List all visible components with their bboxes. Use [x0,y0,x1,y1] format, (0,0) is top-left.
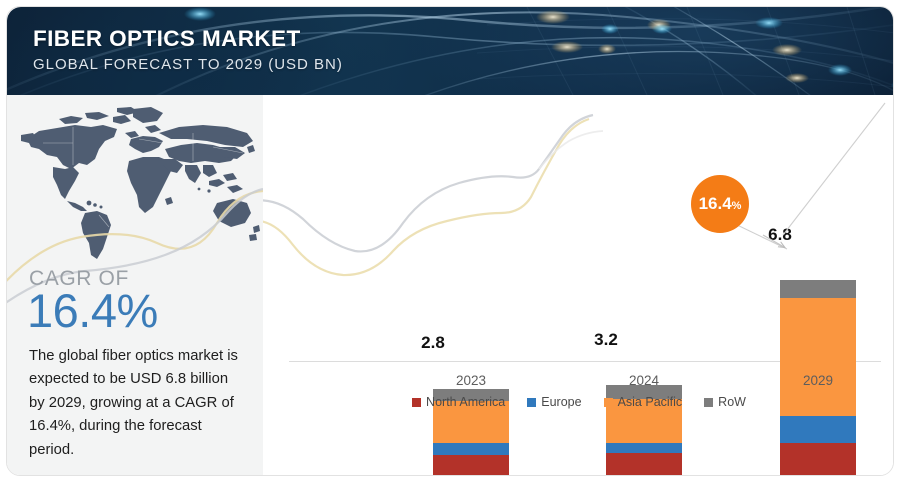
legend-label-row: RoW [718,395,746,409]
header-text-block: FIBER OPTICS MARKET GLOBAL FORECAST TO 2… [33,27,343,73]
plot-area: 2.8 2023 3.2 [263,95,894,476]
legend-swatch-asia-pacific [604,398,613,407]
infographic-root: FIBER OPTICS MARKET GLOBAL FORECAST TO 2… [0,0,900,482]
cagr-callout-value: 16.4 [699,175,732,233]
cagr-value: 16.4% [27,287,158,334]
legend-label-north-america: North America [426,395,505,409]
callout-leader-line [263,95,894,476]
legend-label-asia-pacific: Asia Pacific [618,395,683,409]
sidebar-description: The global fiber optics market is expect… [29,345,247,462]
legend-item-asia-pacific[interactable]: Asia Pacific [604,395,683,409]
page-title: FIBER OPTICS MARKET [33,27,343,51]
legend-label-europe: Europe [541,395,581,409]
chart-legend: North America Europe Asia Pacific R [263,395,894,409]
cagr-callout-unit: % [732,177,742,235]
header-banner: FIBER OPTICS MARKET GLOBAL FORECAST TO 2… [7,7,894,95]
chart-panel: 2.8 2023 3.2 [263,95,894,476]
legend-item-europe[interactable]: Europe [527,395,581,409]
legend-swatch-north-america [412,398,421,407]
page-subtitle: GLOBAL FORECAST TO 2029 (USD BN) [33,56,343,73]
legend-swatch-europe [527,398,536,407]
body-area: CAGR OF 16.4% The global fiber optics ma… [7,95,894,476]
legend-swatch-row [704,398,713,407]
cagr-callout-badge[interactable]: 16.4% [691,175,749,233]
legend-item-row[interactable]: RoW [704,395,746,409]
card-frame: FIBER OPTICS MARKET GLOBAL FORECAST TO 2… [6,6,894,476]
legend-item-north-america[interactable]: North America [412,395,505,409]
sidebar-panel: CAGR OF 16.4% The global fiber optics ma… [7,95,263,476]
